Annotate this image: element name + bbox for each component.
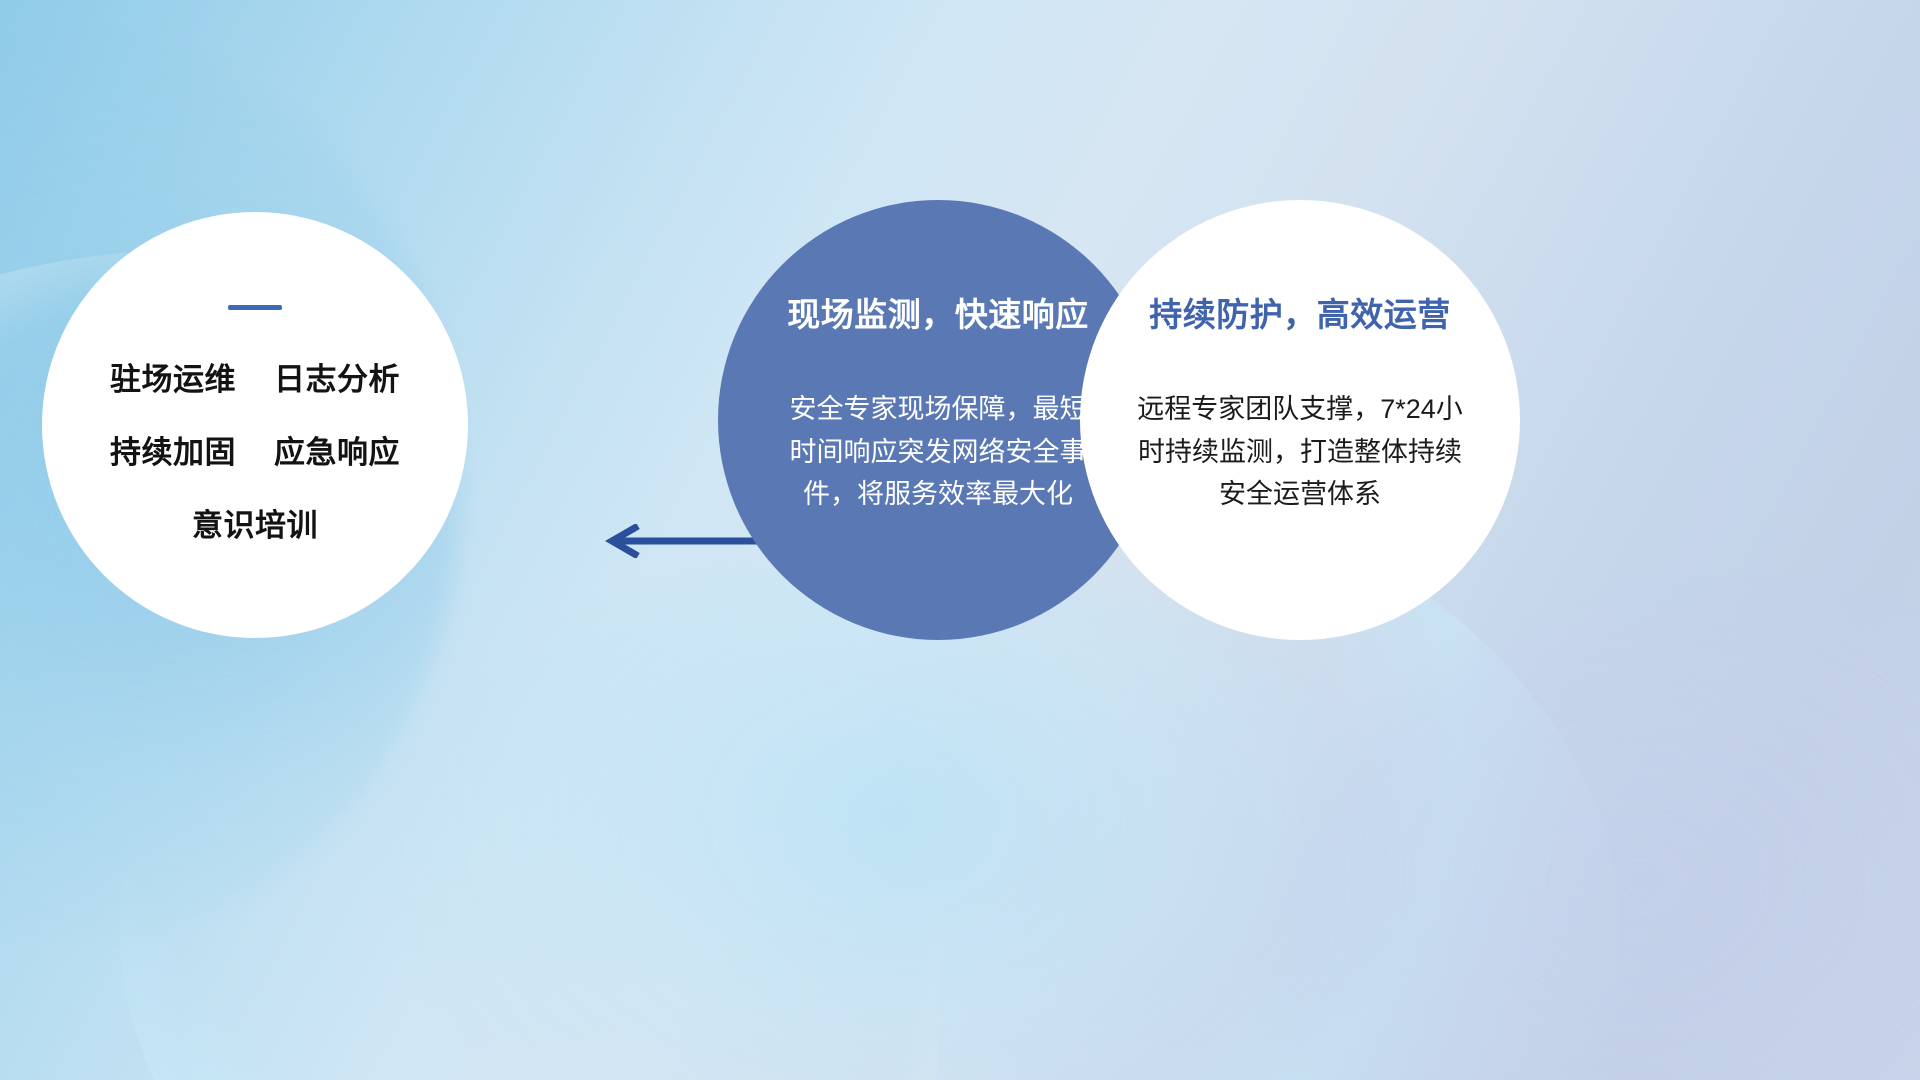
capability-circle-left: 驻场运维 日志分析 持续加固 应急响应 意识培训 — [42, 212, 468, 638]
slide-canvas: 驻场运维 日志分析 持续加固 应急响应 意识培训 现场监测，快速响应 安全专家现… — [0, 0, 1920, 1080]
tag-row: 驻场运维 日志分析 — [110, 354, 400, 399]
capability-circle-right: 持续防护，高效运营 远程专家团队支撑，7*24小时持续监测，打造整体持续安全运营… — [1080, 200, 1520, 640]
tag-row: 持续加固 应急响应 — [110, 427, 400, 472]
circle-body-text: 安全专家现场保障，最短时间响应突发网络安全事件，将服务效率最大化 — [788, 388, 1088, 516]
tag-item: 驻场运维 — [110, 354, 236, 399]
tag-row: 意识培训 — [192, 500, 318, 545]
background-glow-bottom-right — [1280, 600, 1920, 1080]
circle-body-text: 远程专家团队支撑，7*24小时持续监测，打造整体持续安全运营体系 — [1128, 388, 1472, 516]
circle-title: 现场监测，快速响应 — [787, 288, 1089, 336]
title-divider — [228, 305, 282, 310]
tag-item: 日志分析 — [274, 354, 400, 399]
background-glow-bottom-center — [380, 560, 1400, 1080]
circle-title: 持续防护，高效运营 — [1149, 288, 1451, 336]
tag-item: 持续加固 — [110, 427, 236, 472]
tag-item: 意识培训 — [192, 500, 318, 545]
capability-tag-list: 驻场运维 日志分析 持续加固 应急响应 意识培训 — [110, 354, 400, 545]
tag-item: 应急响应 — [274, 427, 400, 472]
